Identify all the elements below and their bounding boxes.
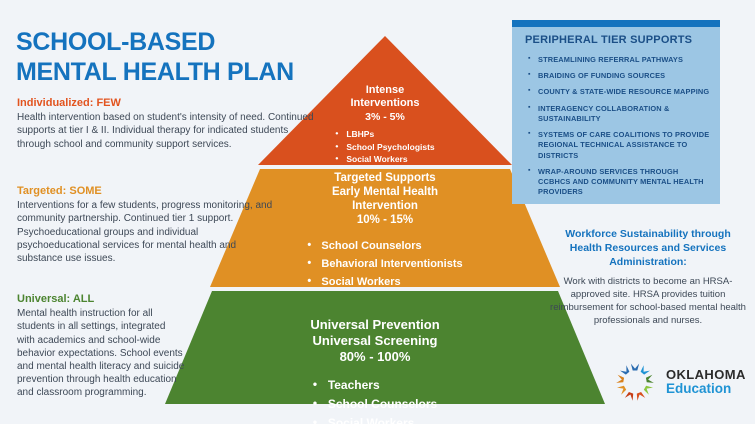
pyramid-tier-universal bbox=[165, 291, 605, 404]
list-item: BRAIDING OF FUNDING SOURCES bbox=[528, 71, 712, 81]
workforce-title: Workforce Sustainability through Health … bbox=[548, 228, 748, 270]
peripheral-title: PERIPHERAL TIER SUPPORTS bbox=[525, 34, 692, 46]
description-individualized: Individualized: FEW Health intervention … bbox=[17, 96, 317, 151]
workforce-body: Work with districts to become an HRSA-ap… bbox=[548, 275, 748, 327]
description-universal: Universal: ALL Mental health instruction… bbox=[17, 292, 185, 400]
description-individualized-body: Health intervention based on student's i… bbox=[17, 111, 317, 151]
description-individualized-heading: Individualized: FEW bbox=[17, 96, 317, 110]
description-targeted-heading: Targeted: SOME bbox=[17, 184, 277, 198]
workforce-sustainability-block: Workforce Sustainability through Health … bbox=[548, 228, 748, 327]
peripheral-accent-bar bbox=[512, 20, 720, 27]
description-universal-heading: Universal: ALL bbox=[17, 292, 185, 306]
description-universal-body: Mental health instruction for all studen… bbox=[17, 307, 185, 399]
list-item: WRAP-AROUND SERVICES THROUGH CCBHCS AND … bbox=[528, 167, 712, 198]
list-item: INTERAGENCY COLLABORATION & SUSTAINABILI… bbox=[528, 104, 712, 124]
infographic-root: SCHOOL-BASED MENTAL HEALTH PLAN Intense … bbox=[0, 0, 755, 424]
description-targeted-body: Interventions for a few students, progre… bbox=[17, 199, 277, 265]
peripheral-item-list: STREAMLINING REFERRAL PATHWAYS BRAIDING … bbox=[528, 55, 712, 203]
logo-line-education: Education bbox=[666, 382, 746, 396]
description-targeted: Targeted: SOME Interventions for a few s… bbox=[17, 184, 277, 265]
logo-line-oklahoma: OKLAHOMA bbox=[666, 368, 746, 382]
oklahoma-logo-mark-icon bbox=[612, 359, 658, 405]
oklahoma-education-logo: OKLAHOMA Education bbox=[612, 356, 752, 408]
list-item: SYSTEMS OF CARE COALITIONS TO PROVIDE RE… bbox=[528, 130, 712, 161]
list-item: STREAMLINING REFERRAL PATHWAYS bbox=[528, 55, 712, 65]
logo-wordmark: OKLAHOMA Education bbox=[666, 368, 746, 396]
peripheral-tier-supports-panel: PERIPHERAL TIER SUPPORTS STREAMLINING RE… bbox=[512, 20, 720, 204]
list-item: COUNTY & STATE-WIDE RESOURCE MAPPING bbox=[528, 87, 712, 97]
